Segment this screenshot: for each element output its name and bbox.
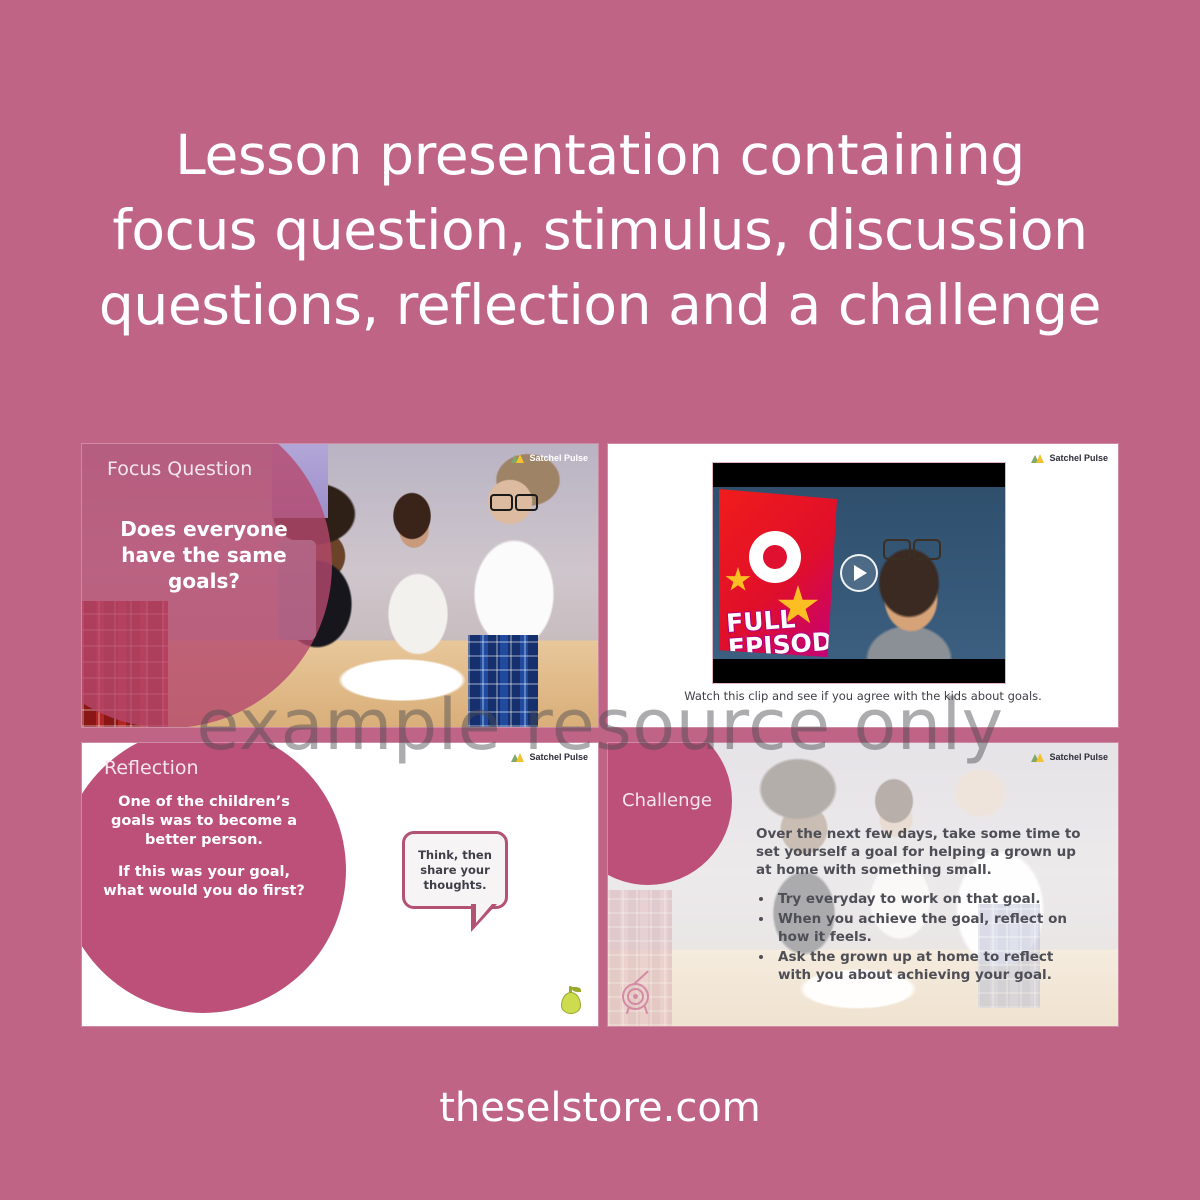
letterbox-top [713,463,1005,487]
pear-icon [560,986,582,1014]
mountain-icon [1031,454,1045,463]
target-icon [620,980,654,1014]
satchel-pulse-logo: Satchel Pulse [511,752,588,762]
challenge-intro: Over the next few days, take some time t… [756,825,1086,879]
reflection-paragraph-1: One of the children’s goals was to becom… [96,793,312,850]
mountain-icon [511,753,525,762]
challenge-bullet: Ask the grown up at home to reflect with… [774,948,1086,984]
challenge-bullet-list: Try everyday to work on that goal. When … [774,890,1086,984]
star-icon [725,567,751,593]
speech-bubble-tail-inner [476,904,492,923]
letterbox-bottom [713,659,1005,683]
satchel-pulse-logo: Satchel Pulse [1031,752,1108,762]
challenge-bullet: Try everyday to work on that goal. [774,890,1086,908]
play-button[interactable] [840,554,878,592]
speech-bubble: Think, then share your thoughts. [402,831,508,909]
target-leg [644,1006,648,1014]
video-caption: Watch this clip and see if you agree wit… [608,689,1118,703]
photo-detail-tartan-blue [468,635,538,727]
cbc-badge: FULL EPISODE [719,489,837,657]
play-triangle-icon [854,565,867,581]
pear-leaf [572,987,581,992]
page-title: Lesson presentation containing focus que… [0,118,1200,343]
satchel-pulse-logo: Satchel Pulse [511,453,588,463]
slide-challenge[interactable]: Satchel Pulse Challenge Over the next fe… [608,743,1118,1026]
footer-url: theselstore.com [0,1085,1200,1131]
photo-detail-glasses [490,494,538,507]
logo-text: Satchel Pulse [1049,453,1108,463]
slide-kicker-focus-question: Focus Question [107,458,252,480]
challenge-bullet: When you achieve the goal, reflect on ho… [774,910,1086,946]
speech-bubble-text: Think, then share your thoughts. [405,834,505,906]
page-title-line-1: Lesson presentation containing [0,118,1200,193]
reflection-body: One of the children’s goals was to becom… [96,793,312,901]
video-player[interactable]: FULL EPISODE [712,462,1006,684]
glasses-icon [883,539,941,556]
logo-text: Satchel Pulse [529,752,588,762]
video-thumbnail: FULL EPISODE [713,463,1005,683]
focus-question-text: Does everyone have the same goals? [104,516,304,594]
slide-stimulus[interactable]: Satchel Pulse FULL EPISODE [608,444,1118,727]
logo-text: Satchel Pulse [529,453,588,463]
satchel-pulse-logo: Satchel Pulse [1031,453,1108,463]
mountain-icon [511,454,525,463]
page-title-line-3: questions, reflection and a challenge [0,268,1200,343]
mountain-icon [1031,753,1045,762]
slide-kicker-reflection: Reflection [104,757,199,779]
cbc-logo-icon [749,531,801,583]
reflection-paragraph-2: If this was your goal, what would you do… [96,863,312,901]
slide-focus-question[interactable]: Focus Question Does everyone have the sa… [82,444,598,727]
page-title-line-2: focus question, stimulus, discussion [0,193,1200,268]
target-center-dot [633,994,638,999]
slide-reflection[interactable]: Satchel Pulse Reflection One of the chil… [82,743,598,1026]
slide-kicker-challenge: Challenge [622,790,712,811]
challenge-body: Over the next few days, take some time t… [756,825,1086,986]
pear-body [561,992,581,1014]
slide-grid: Focus Question Does everyone have the sa… [82,444,1118,1026]
logo-text: Satchel Pulse [1049,752,1108,762]
